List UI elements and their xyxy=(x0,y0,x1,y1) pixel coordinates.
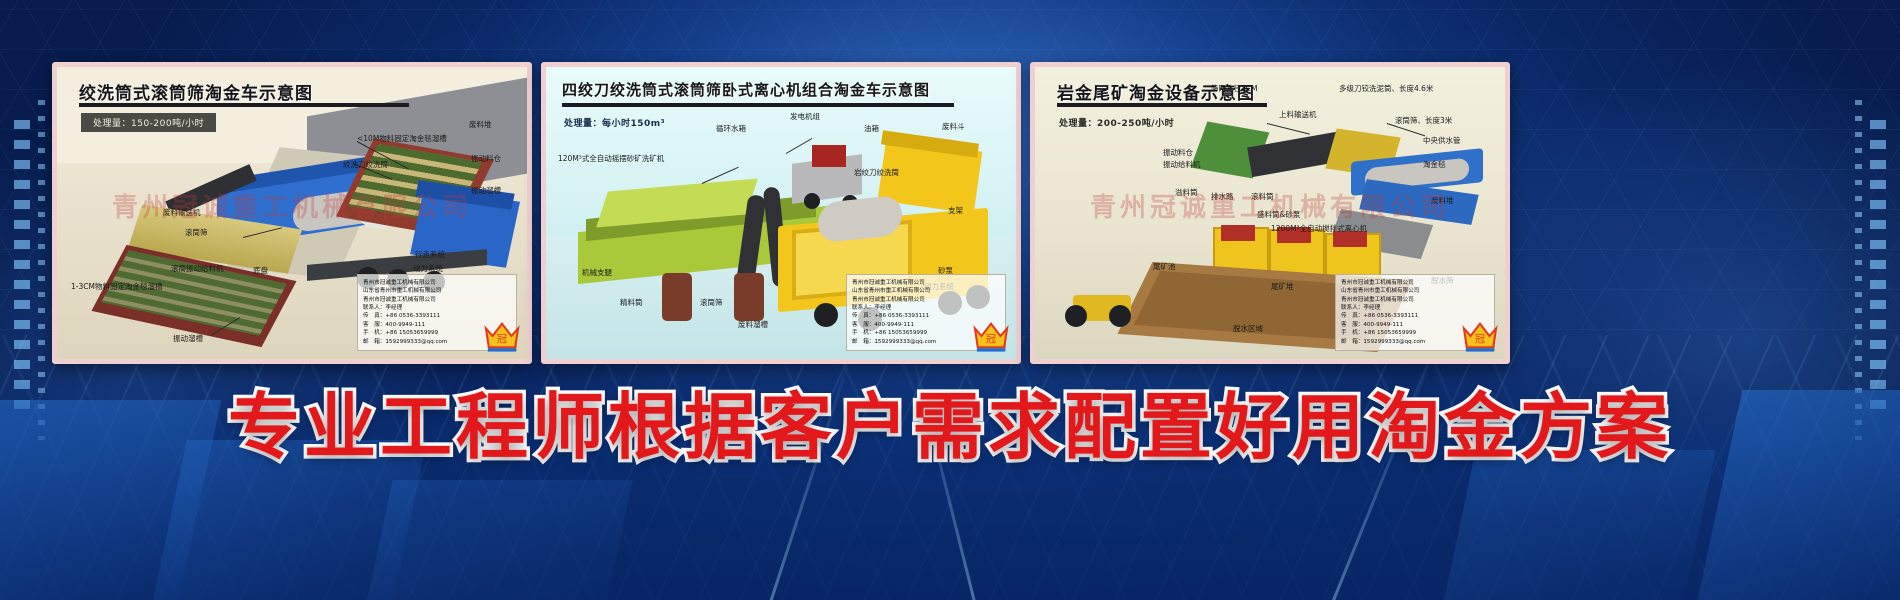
label-power-system: 动力系统 xyxy=(413,263,443,274)
label-waste-conveyor: 废料输送机 xyxy=(163,207,201,218)
panel-title: 绞洗筒式滚筒筛淘金车示意图 xyxy=(79,79,313,104)
label-drain: 排水路 xyxy=(1211,191,1234,202)
truck-wheel-1 xyxy=(814,303,838,327)
contact-company: 青州市冠诚重工机械有限公司 xyxy=(363,279,511,287)
contact-company2: 山东省青州市重工机械有限公司 xyxy=(852,287,1000,295)
label-fine-drum: 精料筒 xyxy=(620,297,643,308)
contact-address: 青州市冠诚重工机械有限公司 xyxy=(852,296,1000,304)
label-trommel: 滚筒筛 xyxy=(700,297,723,308)
title-rule xyxy=(79,103,409,107)
label-mesh-size: 筛网孔径3CM xyxy=(1211,83,1257,94)
centrifuge-motor-1 xyxy=(1221,225,1255,241)
label-feed-drum: 滚料筒 xyxy=(1251,191,1274,202)
capacity-badge: 处理量：200-250吨/小时 xyxy=(1059,113,1174,132)
label-travel-system: 行走系统 xyxy=(415,249,445,260)
label-fixed-sluice: <10M物料固定淘金毯溜槽 xyxy=(357,133,447,144)
contact-company: 青州市冠诚重工机械有限公司 xyxy=(1341,279,1489,287)
label-rock-cutter: 岩绞刀绞洗筒 xyxy=(854,167,899,178)
label-waste-chute: 废料溜槽 xyxy=(738,319,768,330)
label-water-tank: 循环水箱 xyxy=(716,123,746,134)
label-vibrating-bin: 振动料仓 xyxy=(1163,147,1193,158)
label-tailings-pile: 尾矿堆 xyxy=(1271,281,1294,292)
panel-four-cutter-centrifuge-car[interactable]: 四绞刀绞洗筒式滚筒筛卧式离心机组合淘金车示意图 处理量：每小时150m³ 发电机… xyxy=(541,62,1021,364)
title-rule xyxy=(1057,103,1267,107)
label-overflow-drum: 溢料筒 xyxy=(1175,187,1198,198)
label-cutter-drum: 多级刀铰洗泥筒、长度4.6米 xyxy=(1339,83,1433,94)
label-tailings-pond: 尾矿池 xyxy=(1153,261,1176,272)
poster-stage: 绞洗筒式滚筒筛淘金车示意图 处理量：150-200吨/小时 <10M物料固定淘金… xyxy=(0,0,1900,600)
crown-seal-icon: 冠 xyxy=(1461,319,1499,353)
panel-rock-tailings-equipment[interactable]: 岩金尾矿淘金设备示意图 处理量：200-250吨/小时 筛网孔径3CM 多级刀铰… xyxy=(1030,62,1510,364)
crown-seal-icon: 冠 xyxy=(483,319,521,353)
label-support: 支架 xyxy=(948,205,963,216)
contact-address: 青州市冠诚重工机械有限公司 xyxy=(363,296,511,304)
label-washer-machine: 120M³式全自动摇摆砂矿洗矿机 xyxy=(558,153,664,164)
contact-address: 青州市冠诚重工机械有限公司 xyxy=(1341,296,1489,304)
label-vibrating-feeder: 滚筒振动给料机 xyxy=(171,263,224,274)
title-rule xyxy=(562,103,954,107)
label-waste-pile: 废料堆 xyxy=(1431,195,1454,206)
contact-company2: 山东省青州市重工机械有限公司 xyxy=(1341,287,1489,295)
label-gold-carpet: 淘金毯 xyxy=(1423,159,1446,170)
panel-gold-trommel-car[interactable]: 绞洗筒式滚筒筛淘金车示意图 处理量：150-200吨/小时 <10M物料固定淘金… xyxy=(52,62,532,364)
main-slogan: 专业工程师根据客户需求配置好用淘金方案 xyxy=(0,368,1900,473)
capacity-badge: 处理量：150-200吨/小时 xyxy=(81,113,216,132)
label-vib-chute-2: 振动溜槽 xyxy=(173,333,203,344)
label-dewater-zone: 脱水区域 xyxy=(1233,323,1263,334)
gen-wheel-1 xyxy=(804,193,820,209)
loader-wheel-1 xyxy=(1065,305,1087,327)
label-vibrating-bin: 振动料仓 xyxy=(471,153,501,164)
contact-company2: 山东省青州市重工机械有限公司 xyxy=(363,287,511,295)
label-washing-drum: 绞洗刀绞洗筒 xyxy=(343,159,388,170)
label-vib-feeder: 振动给料机 xyxy=(1163,159,1201,170)
label-small-sluice: 1-3CM物料固定淘金毯溜槽 xyxy=(71,281,162,292)
label-central-water: 中央供水管 xyxy=(1423,135,1461,146)
label-trommel: 滚筒筛 xyxy=(185,227,208,238)
crown-seal-icon: 冠 xyxy=(972,319,1010,353)
capacity-badge: 处理量：每小时150m³ xyxy=(564,113,665,132)
label-mech-leg: 机械支腿 xyxy=(582,267,612,278)
label-feed-conveyor: 上料输送机 xyxy=(1279,109,1317,120)
contact-person: 联系人：李经理 xyxy=(852,304,1000,312)
label-vibrating-chute: 振动溜槽 xyxy=(471,185,501,196)
label-chassis: 底盘 xyxy=(253,265,268,276)
contact-company: 青州市冠诚重工机械有限公司 xyxy=(852,279,1000,287)
drum-brown-1 xyxy=(662,273,692,321)
label-waste-pile: 废料堆 xyxy=(469,119,492,130)
label-pump: 盛料筒&砂泵 xyxy=(1257,209,1300,220)
panel-title: 四绞刀绞洗筒式滚筒筛卧式离心机组合淘金车示意图 xyxy=(562,79,930,100)
svg-text:冠: 冠 xyxy=(497,334,507,346)
svg-text:冠: 冠 xyxy=(1475,334,1485,346)
engine-red xyxy=(812,145,846,167)
label-fuel-tank: 油箱 xyxy=(864,123,879,134)
svg-text:冠: 冠 xyxy=(986,334,996,346)
contact-person: 联系人：李经理 xyxy=(363,304,511,312)
drum-brown-2 xyxy=(734,273,764,321)
label-trommel-len: 滚筒筛、长度3米 xyxy=(1395,115,1452,126)
diagram-panels: 绞洗筒式滚筒筛淘金车示意图 处理量：150-200吨/小时 <10M物料固定淘金… xyxy=(0,0,1900,600)
label-generator: 发电机组 xyxy=(790,111,820,122)
loader-wheel-2 xyxy=(1109,305,1131,327)
contact-person: 联系人：李经理 xyxy=(1341,304,1489,312)
label-waste-bucket: 废料斗 xyxy=(942,121,965,132)
label-centrifuge: 1200M³全自动搅拌式离心机 xyxy=(1271,223,1367,234)
